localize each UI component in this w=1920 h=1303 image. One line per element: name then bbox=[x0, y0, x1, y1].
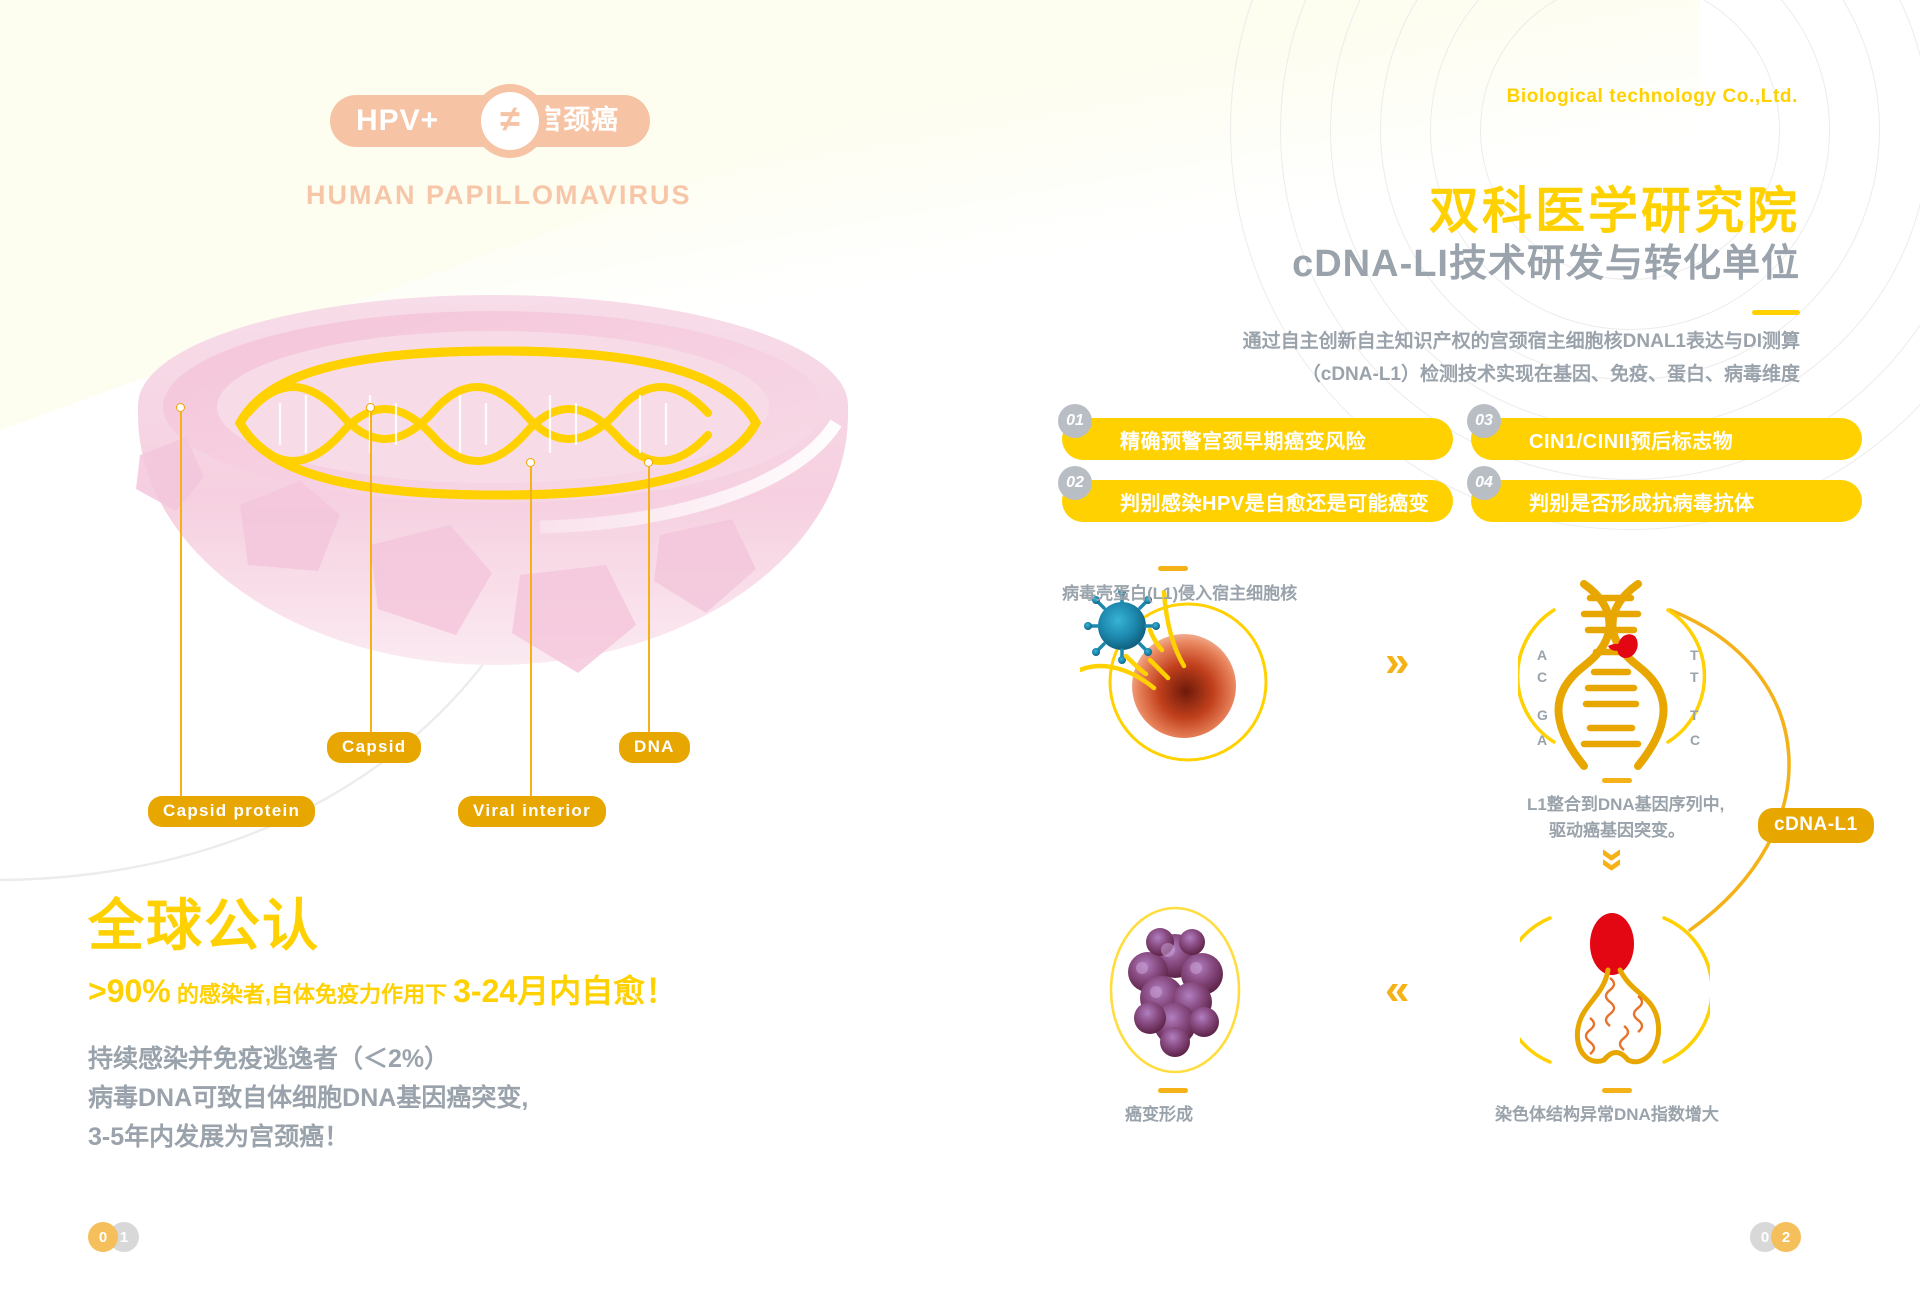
feature-label-02: 判别感染HPV是自愈还是可能癌变 bbox=[1120, 487, 1429, 516]
virus-entering-nucleus-icon bbox=[1080, 590, 1280, 770]
left-stat-emphasis: 3-24月内自愈！ bbox=[453, 973, 677, 1009]
feature-pill-03[interactable]: 03 CIN1/CINII预后标志物 bbox=[1471, 418, 1862, 460]
left-stat-percent: >90% bbox=[88, 973, 171, 1009]
left-headline: 全球公认 bbox=[88, 895, 868, 957]
flow-arrow-down-icon: » bbox=[1592, 848, 1636, 872]
feature-number-03: 03 bbox=[1467, 404, 1501, 438]
left-stat-line: >90% 的感染者,自体免疫力作用下 3-24月内自愈！ bbox=[88, 971, 868, 1013]
chromosome-abnormal-icon bbox=[1520, 900, 1710, 1080]
flow-arrow-right-icon: » bbox=[1385, 640, 1409, 684]
feature-number-02: 02 bbox=[1058, 466, 1092, 500]
dna-base-left-3: G bbox=[1537, 708, 1548, 722]
flow-rule-step2 bbox=[1602, 778, 1632, 783]
left-body-copy: 持续感染并免疫逃逸者（＜2%） 病毒DNA可致自体细胞DNA基因癌突变, 3-5… bbox=[88, 1040, 868, 1156]
hpv-badge-right-text: 宫颈癌 bbox=[535, 107, 619, 134]
left-body-line-2: 病毒DNA可致自体细胞DNA基因癌突变, bbox=[88, 1079, 868, 1118]
callout-label-viral-interior[interactable]: Viral interior bbox=[458, 796, 606, 827]
virus-cross-section-illustration bbox=[120, 295, 880, 715]
poster-canvas: HPV+ 宫颈癌 ≠ HUMAN PAPILLOMAVIRUS bbox=[0, 0, 1920, 1303]
hpv-badge-pill: HPV+ 宫颈癌 ≠ bbox=[330, 95, 650, 147]
feature-pill-grid: 01 精确预警宫颈早期癌变风险 03 CIN1/CINII预后标志物 02 判别… bbox=[1062, 418, 1862, 542]
company-name: Biological technology Co.,Ltd. bbox=[1507, 86, 1798, 108]
left-body-line-3: 3-5年内发展为宫颈癌！ bbox=[88, 1118, 868, 1157]
hpv-subtitle: HUMAN PAPILLOMAVIRUS bbox=[306, 180, 692, 211]
cdna-l1-badge[interactable]: cDNA-L1 bbox=[1758, 808, 1874, 843]
feature-pill-01[interactable]: 01 精确预警宫颈早期癌变风险 bbox=[1062, 418, 1453, 460]
pager-right[interactable]: 0 2 bbox=[1750, 1222, 1801, 1252]
flow-caption-step2-line2: 驱动癌基因突变。 bbox=[1527, 818, 1707, 844]
title-divider-rule bbox=[1752, 310, 1800, 315]
callout-dot-viral-interior bbox=[526, 458, 535, 467]
callout-line-dna bbox=[648, 467, 650, 732]
left-body-line-1: 持续感染并免疫逃逸者（＜2%） bbox=[88, 1040, 868, 1079]
feature-number-01: 01 bbox=[1058, 404, 1092, 438]
page-subtitle: cDNA-LI技术研发与转化单位 bbox=[1292, 245, 1800, 285]
callout-dot-capsid bbox=[366, 403, 375, 412]
callout-line-capsid-protein bbox=[180, 412, 182, 796]
callout-line-viral-interior bbox=[530, 467, 532, 796]
feature-row-1: 01 精确预警宫颈早期癌变风险 03 CIN1/CINII预后标志物 bbox=[1062, 418, 1862, 460]
dna-base-right-1: T bbox=[1690, 648, 1699, 662]
callout-line-capsid bbox=[370, 412, 372, 732]
dna-base-right-2: T bbox=[1690, 670, 1699, 684]
flow-caption-step3: 染色体结构异常DNA指数增大 bbox=[1495, 1102, 1715, 1128]
dna-base-left-2: C bbox=[1537, 670, 1547, 684]
feature-label-04: 判别是否形成抗病毒抗体 bbox=[1529, 487, 1755, 516]
background-concentric-rings bbox=[1280, 0, 1920, 480]
page-description-line-1: 通过自主创新自主知识产权的宫颈宿主细胞核DNAL1表达与DI测算 bbox=[1220, 325, 1800, 358]
pager-left[interactable]: 0 1 bbox=[88, 1222, 139, 1252]
left-stat-middle: 的感染者,自体免疫力作用下 bbox=[171, 982, 453, 1007]
hpv-header-badge: HPV+ 宫颈癌 ≠ bbox=[330, 95, 650, 147]
feature-label-01: 精确预警宫颈早期癌变风险 bbox=[1120, 425, 1366, 454]
feature-row-2: 02 判别感染HPV是自愈还是可能癌变 04 判别是否形成抗病毒抗体 bbox=[1062, 480, 1862, 522]
hpv-badge-left-text: HPV+ bbox=[356, 106, 439, 136]
tumor-cluster-icon bbox=[1080, 898, 1270, 1078]
process-flow-diagram: 病毒壳蛋白(L1)侵入宿主细胞核 » bbox=[1040, 580, 1870, 1180]
dna-base-right-3: T bbox=[1690, 708, 1699, 722]
feature-pill-02[interactable]: 02 判别感染HPV是自愈还是可能癌变 bbox=[1062, 480, 1453, 522]
dna-base-left-1: A bbox=[1537, 648, 1547, 662]
callout-dot-dna bbox=[644, 458, 653, 467]
left-copy-block: 全球公认 >90% 的感染者,自体免疫力作用下 3-24月内自愈！ 持续感染并免… bbox=[88, 895, 868, 1156]
callout-label-dna[interactable]: DNA bbox=[619, 732, 690, 763]
flow-arrow-left-icon: « bbox=[1385, 968, 1409, 1012]
flow-caption-step2: L1整合到DNA基因序列中, 驱动癌基因突变。 bbox=[1527, 792, 1707, 843]
pager-right-digit-2: 2 bbox=[1771, 1222, 1801, 1252]
flow-caption-step2-line1: L1整合到DNA基因序列中, bbox=[1527, 792, 1707, 818]
flow-rule-step4 bbox=[1158, 1088, 1188, 1093]
dna-base-right-4: C bbox=[1690, 733, 1700, 747]
flow-rule-step1 bbox=[1158, 566, 1188, 571]
flow-rule-step3 bbox=[1602, 1088, 1632, 1093]
flow-caption-step4: 癌变形成 bbox=[1125, 1102, 1193, 1128]
callout-label-capsid-protein[interactable]: Capsid protein bbox=[148, 796, 315, 827]
pager-left-digit-1: 0 bbox=[88, 1222, 118, 1252]
not-equal-icon: ≠ bbox=[473, 84, 547, 158]
callout-dot-capsid-protein bbox=[176, 403, 185, 412]
feature-number-04: 04 bbox=[1467, 466, 1501, 500]
page-description-line-2: （cDNA-L1）检测技术实现在基因、免疫、蛋白、病毒维度 bbox=[1220, 358, 1800, 391]
dna-base-left-4: A bbox=[1537, 733, 1547, 747]
not-equal-glyph: ≠ bbox=[481, 92, 539, 150]
dna-helix-mutation-icon bbox=[1518, 580, 1718, 770]
flow-caption-step1: 病毒壳蛋白(L1)侵入宿主细胞核 bbox=[1062, 581, 1297, 607]
feature-label-03: CIN1/CINII预后标志物 bbox=[1529, 425, 1733, 454]
page-title: 双科医学研究院 bbox=[1429, 185, 1800, 238]
callout-label-capsid[interactable]: Capsid bbox=[327, 732, 421, 763]
page-description: 通过自主创新自主知识产权的宫颈宿主细胞核DNAL1表达与DI测算 （cDNA-L… bbox=[1220, 325, 1800, 392]
feature-pill-04[interactable]: 04 判别是否形成抗病毒抗体 bbox=[1471, 480, 1862, 522]
